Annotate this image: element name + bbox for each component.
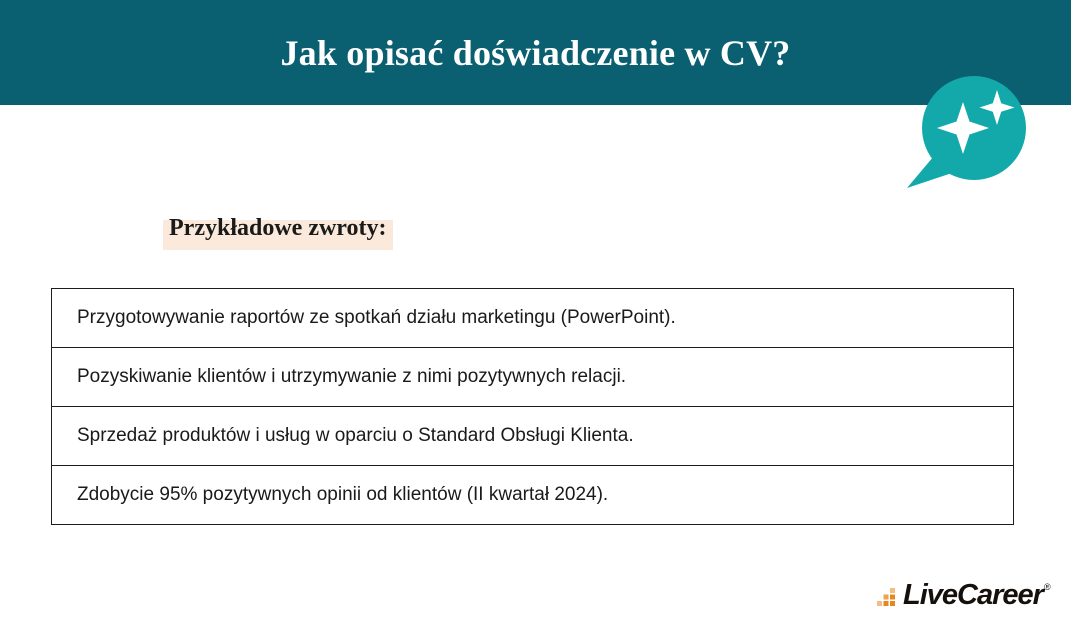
table-row: Pozyskiwanie klientów i utrzymywanie z n… [52,348,1014,407]
logo-wordmark: LiveCareer [903,581,1043,610]
table-body: Przygotowywanie raportów ze spotkań dzia… [52,289,1014,525]
phrase-examples-table: Przygotowywanie raportów ze spotkań dzia… [51,288,1014,525]
slide-root: Jak opisać doświadczenie w CV? Przykłado… [0,0,1071,629]
dot-grid-icon [877,587,899,607]
section-heading-label: Przykładowe zwroty: [169,211,387,245]
table-cell-phrase: Sprzedaż produktów i usług w oparciu o S… [52,407,1014,466]
table-row: Sprzedaż produktów i usług w oparciu o S… [52,407,1014,466]
table-cell-phrase: Przygotowywanie raportów ze spotkań dzia… [52,289,1014,348]
speech-bubble-sparkle-icon [893,76,1053,192]
table-cell-phrase: Pozyskiwanie klientów i utrzymywanie z n… [52,348,1014,407]
table-row: Przygotowywanie raportów ze spotkań dzia… [52,289,1014,348]
livecareer-logo: LiveCareer ® [877,580,1051,610]
logo-registered-mark: ® [1044,582,1051,592]
section-heading: Przykładowe zwroty: [165,211,391,245]
table-cell-phrase: Zdobycie 95% pozytywnych opinii od klien… [52,466,1014,525]
table-row: Zdobycie 95% pozytywnych opinii od klien… [52,466,1014,525]
